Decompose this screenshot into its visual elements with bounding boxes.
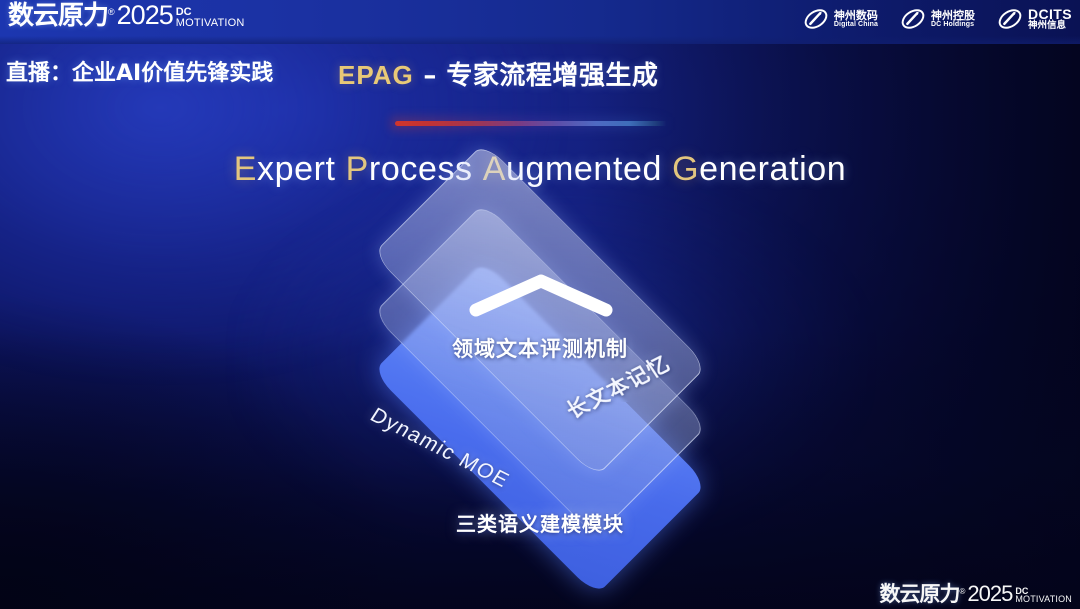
logo-name-cn: 神州数码 <box>834 10 878 22</box>
chevron-up-icon <box>468 272 614 318</box>
watermark-registered-mark: ® <box>959 587 965 596</box>
brand-dc-label: DC <box>176 7 245 17</box>
watermark-year: 2025 <box>967 583 1012 605</box>
expansion-cap-p: P <box>346 150 369 188</box>
logo-text-digital-china: 神州数码 Digital China <box>834 10 878 29</box>
expansion-rest-process: rocess <box>369 150 473 188</box>
expansion-cap-a: A <box>483 150 506 188</box>
slide-title: EPAG – 专家流程增强生成 <box>338 55 658 92</box>
expansion-rest-augmented: ugmented <box>506 150 662 188</box>
brand-dc-motivation: DC MOTIVATION <box>176 7 245 28</box>
logo-text-dc-holdings: 神州控股 DC Holdings <box>931 10 975 29</box>
epag-expansion-line: Expert Process Augmented Generation <box>0 150 1080 189</box>
watermark-name-cn: 数云原力 <box>879 584 959 605</box>
expansion-rest-generation: eneration <box>699 150 846 188</box>
brand-motivation-label: MOTIVATION <box>176 18 245 28</box>
logo-name-cn: 神州信息 <box>1028 21 1072 31</box>
slide-title-rest: – 专家流程增强生成 <box>414 61 659 91</box>
brand-name-cn: 数云原力 <box>8 3 108 29</box>
watermark-dc-motivation: DC MOTIVATION <box>1015 587 1072 604</box>
slide-title-accent: EPAG <box>338 60 414 90</box>
expansion-cap-e: E <box>234 150 257 188</box>
logo-name-en: DC Holdings <box>931 21 975 28</box>
expansion-cap-g: G <box>672 150 699 188</box>
slide-canvas: 数云原力®2025 DC MOTIVATION 直播：企业AI价值先锋实践 EP… <box>0 0 1080 609</box>
brand-logo: 数云原力®2025 DC MOTIVATION <box>8 2 245 29</box>
logo-text-dcits: 神州信息 DCITS <box>1028 7 1072 32</box>
logo-name-cn: 神州控股 <box>931 10 975 22</box>
logo-digital-china: 神州数码 Digital China <box>803 6 878 32</box>
corporate-logo-row: 神州数码 Digital China 神州控股 DC Holdings <box>803 6 1072 32</box>
swirl-logo-icon <box>803 6 829 32</box>
stack-layer-bottom-label: 三类语义建模模块 <box>0 508 1080 537</box>
logo-name-en: Digital China <box>834 21 878 28</box>
swirl-logo-icon <box>900 6 926 32</box>
live-session-title: 直播：企业AI价值先锋实践 <box>6 55 273 87</box>
brand-registered-mark: ® <box>108 7 115 17</box>
expansion-rest-expert: xpert <box>257 150 336 188</box>
footer-watermark: 数云原力®2025 DC MOTIVATION <box>879 583 1072 605</box>
brand-year: 2025 <box>117 2 173 29</box>
gradient-divider <box>395 121 667 126</box>
logo-dc-holdings: 神州控股 DC Holdings <box>900 6 975 32</box>
watermark-motivation-label: MOTIVATION <box>1015 595 1072 604</box>
stack-layer-top-label: 领域文本评测机制 <box>0 333 1080 363</box>
swirl-logo-icon <box>997 6 1023 32</box>
logo-dcits: 神州信息 DCITS <box>997 6 1072 32</box>
